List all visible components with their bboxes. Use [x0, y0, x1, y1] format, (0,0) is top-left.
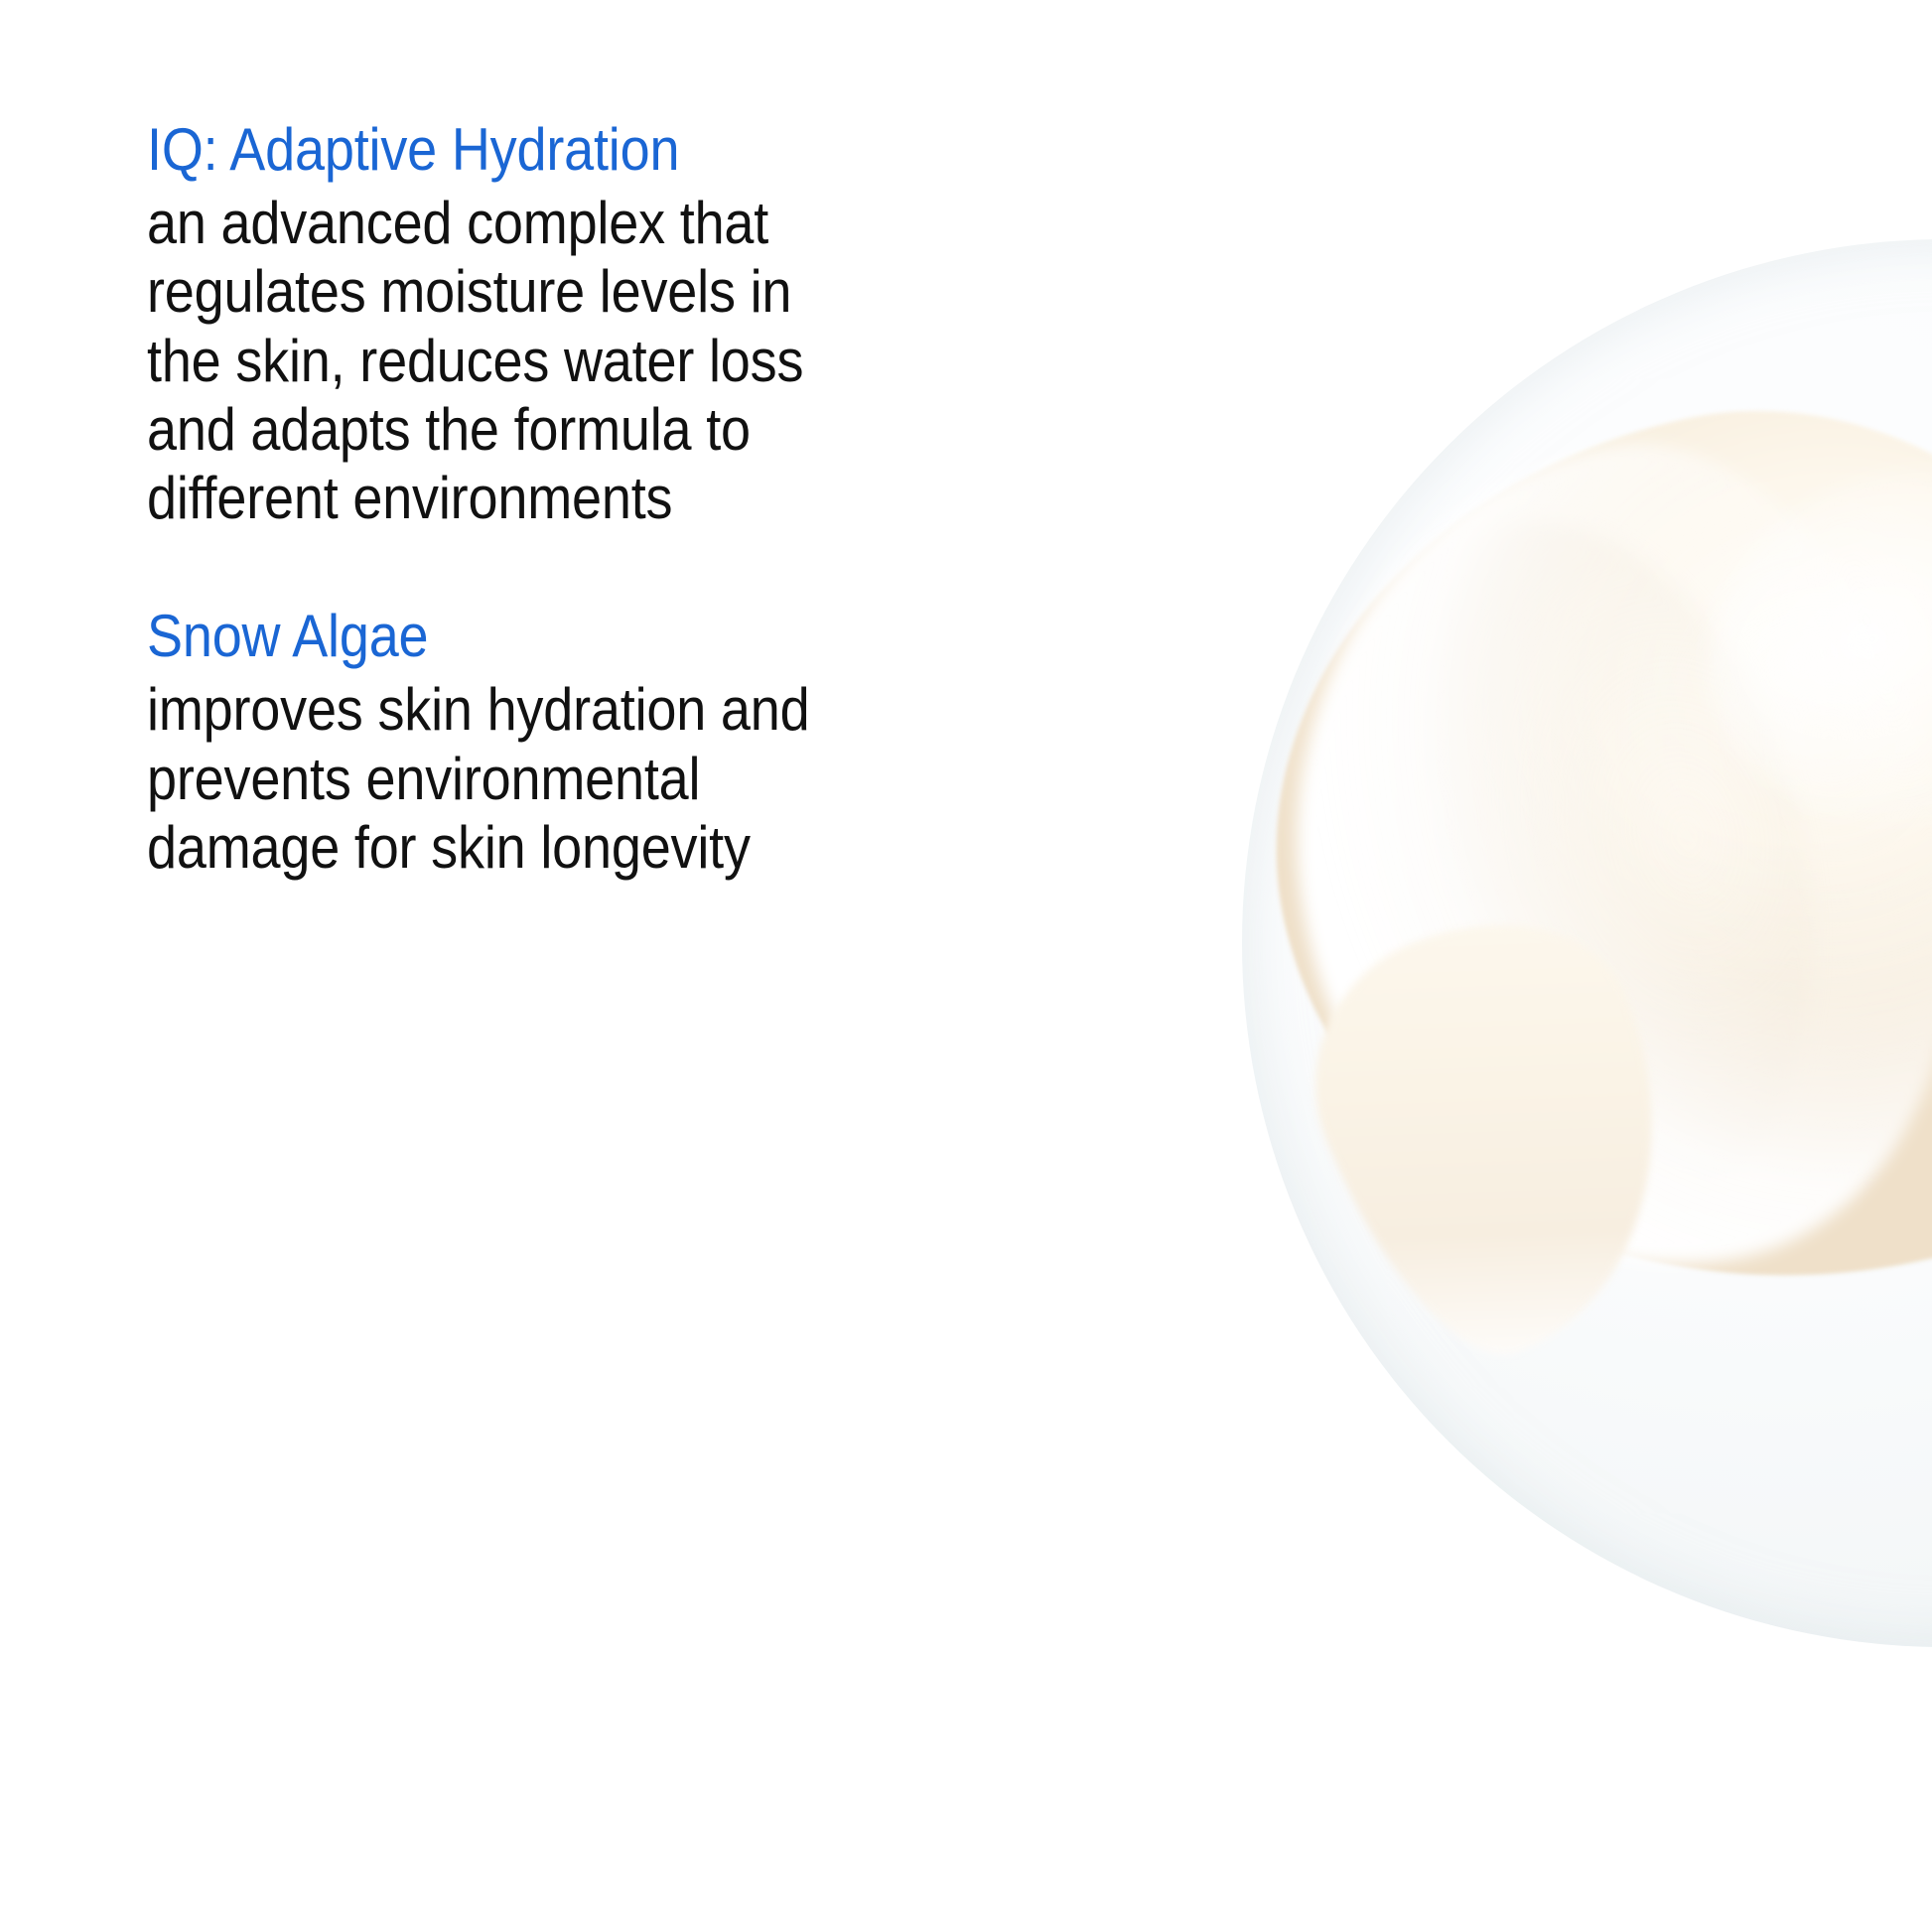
- cream-tail: [1270, 877, 1735, 1390]
- dish-rim-highlight: [1152, 149, 1932, 1737]
- dish-drop-shadow: [1152, 149, 1932, 1737]
- product-ingredient-card: IQ: Adaptive Hydration an advanced compl…: [0, 0, 1932, 1932]
- ingredient-copy-column: IQ: Adaptive Hydration an advanced compl…: [147, 117, 981, 882]
- ingredient-description: an advanced complex that regulates moist…: [147, 189, 897, 532]
- cream-crescent-highlight: [1227, 398, 1932, 1327]
- petri-dish-image: [1152, 149, 1932, 1737]
- ingredient-description: improves skin hydration and prevents env…: [147, 675, 897, 882]
- cream-swatch: [1281, 417, 1932, 1291]
- ingredient-block-snow-algae: Snow Algae improves skin hydration and p…: [147, 604, 981, 882]
- cream-body: [1194, 325, 1932, 1384]
- dish-inner-wall: [1152, 149, 1932, 1737]
- ingredient-block-iq-adaptive-hydration: IQ: Adaptive Hydration an advanced compl…: [147, 117, 981, 532]
- ingredient-name-heading: Snow Algae: [147, 604, 897, 669]
- dish-glass-rim-icon: [1152, 149, 1932, 1737]
- dish-frosted-base: [1242, 239, 1932, 1647]
- cream-edge-shadow: [1221, 476, 1875, 1284]
- cream-gloss-highlight: [1666, 418, 1932, 871]
- ingredient-name-heading: IQ: Adaptive Hydration: [147, 117, 897, 183]
